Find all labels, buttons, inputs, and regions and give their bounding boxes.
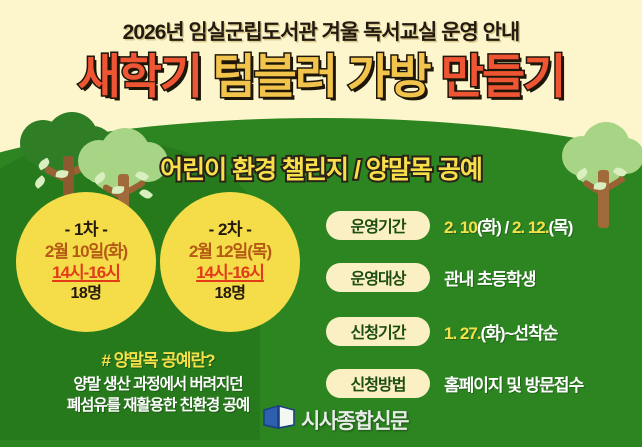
info-row-application-method: 신청방법 홈페이지 및 방문접수 (326, 368, 583, 398)
info-row-operating-period: 운영기간 2. 10(화) / 2. 12.(목) (326, 210, 572, 240)
info-value-application-method: 홈페이지 및 방문접수 (444, 371, 583, 396)
info-label-operating-period: 운영기간 (326, 211, 430, 240)
session-capacity: 18명 (214, 285, 245, 304)
kicker-text: 2026년 임실군립도서관 겨울 독서교실 운영 안내 (0, 16, 642, 46)
info-value-target-audience: 관내 초등학생 (444, 265, 536, 290)
watermark-text: 시사종합신문 (301, 405, 408, 435)
session-date: 2월 12일(목) (189, 242, 271, 262)
period-date-2: 2. 12. (512, 218, 549, 237)
period-date-1: 2. 10 (444, 218, 477, 237)
info-label-application-period: 신청기간 (326, 317, 430, 346)
note-line-2: 폐섬유를 재활용한 친환경 공예 (12, 396, 304, 417)
session-circle-1: - 1차 - 2월 10일(화) 14시-16시 18명 (16, 192, 156, 332)
session-time: 14시-16시 (196, 263, 264, 283)
session-circle-2: - 2차 - 2월 12일(목) 14시-16시 18명 (160, 192, 300, 332)
note-block: # 양말목 공예란? 양말 생산 과정에서 버려지던 폐섬유를 재활용한 친환경… (12, 346, 304, 417)
session-round-label: - 1차 - (65, 220, 108, 240)
period-sep-1: (화) / (477, 218, 512, 237)
title-word-2: 텀블러 (212, 50, 336, 103)
open-book-icon (262, 404, 296, 436)
poster-root: 2026년 임실군립도서관 겨울 독서교실 운영 안내 새학기 텀블러 가방 만… (0, 0, 642, 447)
title-word-1: 새학기 (78, 50, 202, 103)
subtitle-text: 어린이 환경 챌린지 / 양말목 공예 (0, 150, 642, 186)
session-capacity: 18명 (70, 285, 101, 304)
info-label-application-method: 신청방법 (326, 369, 430, 398)
session-round-label: - 2차 - (209, 220, 252, 240)
info-value-operating-period: 2. 10(화) / 2. 12.(목) (444, 213, 572, 238)
application-suffix: (화)~선착순 (481, 324, 558, 343)
watermark: 시사종합신문 (262, 404, 408, 436)
info-label-target-audience: 운영대상 (326, 263, 430, 292)
title-word-3: 가방 (347, 50, 429, 103)
note-heading: # 양말목 공예란? (12, 346, 304, 371)
info-row-application-period: 신청기간 1. 27.(화)~선착순 (326, 316, 557, 346)
session-date: 2월 10일(화) (45, 242, 127, 262)
info-value-application-period: 1. 27.(화)~선착순 (444, 319, 557, 344)
note-line-1: 양말 생산 과정에서 버려지던 (12, 375, 304, 396)
session-time: 14시-16시 (52, 263, 120, 283)
page-title: 새학기 텀블러 가방 만들기 (0, 52, 642, 101)
info-row-target-audience: 운영대상 관내 초등학생 (326, 262, 536, 292)
application-date: 1. 27. (444, 324, 481, 343)
title-word-4: 만들기 (441, 50, 565, 103)
period-sep-2: (목) (549, 218, 573, 237)
